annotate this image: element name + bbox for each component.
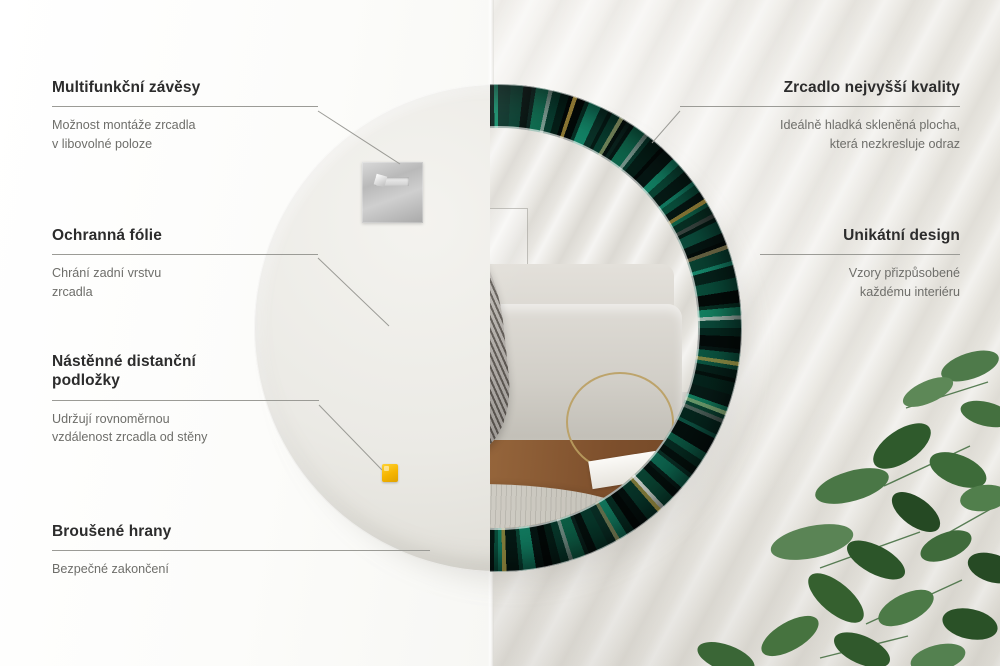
wall-spacer-icon <box>382 464 398 482</box>
callout-nastenne-distancni-podlozky: Nástěnné distanční podložky Udržují rovn… <box>52 352 319 446</box>
hanger-slot-icon <box>375 177 409 186</box>
callout-description: Vzory přizpůsobené každému interiéru <box>760 264 960 301</box>
callout-title: Nástěnné distanční podložky <box>52 352 319 391</box>
callout-description: Udržují rovnoměrnou vzdálenost zrcadla o… <box>52 410 319 447</box>
mirror-glass <box>490 128 698 528</box>
callout-unikatni-design: Unikátní design Vzory přizpůsobené každé… <box>760 226 960 301</box>
callout-rule <box>760 254 960 255</box>
mirror-front-inner <box>490 84 742 572</box>
callout-description: Bezpečné zakončení <box>52 560 430 578</box>
callout-multifunkcni-zavesy: Multifunkční závěsy Možnost montáže zrca… <box>52 78 318 153</box>
callout-rule <box>52 106 318 107</box>
callout-rule <box>52 550 430 551</box>
callout-rule <box>52 400 319 401</box>
callout-title: Multifunkční závěsy <box>52 78 318 97</box>
callout-title: Ochranná fólie <box>52 226 318 245</box>
callout-ochranna-folie: Ochranná fólie Chrání zadní vrstvu zrcad… <box>52 226 318 301</box>
callout-zrcadlo-nejvyssi-kvality: Zrcadlo nejvyšší kvality Ideálně hladká … <box>680 78 960 153</box>
callout-description: Možnost montáže zrcadla v libovolné polo… <box>52 116 318 153</box>
callout-rule <box>52 254 318 255</box>
mirror-disc <box>254 84 742 572</box>
mirror-front-photo-half <box>490 84 742 572</box>
callout-brousene-hrany: Broušené hrany Bezpečné zakončení <box>52 522 430 579</box>
hanger-plate-icon <box>362 162 423 223</box>
mirror-illustration <box>254 84 742 572</box>
callout-title: Zrcadlo nejvyšší kvality <box>680 78 960 97</box>
callout-description: Chrání zadní vrstvu zrcadla <box>52 264 318 301</box>
callout-description: Ideálně hladká skleněná plocha, která ne… <box>680 116 960 153</box>
callout-rule <box>680 106 960 107</box>
callout-title: Broušené hrany <box>52 522 430 541</box>
callout-title: Unikátní design <box>760 226 960 245</box>
infographic-canvas: Multifunkční závěsy Možnost montáže zrca… <box>0 0 1000 666</box>
